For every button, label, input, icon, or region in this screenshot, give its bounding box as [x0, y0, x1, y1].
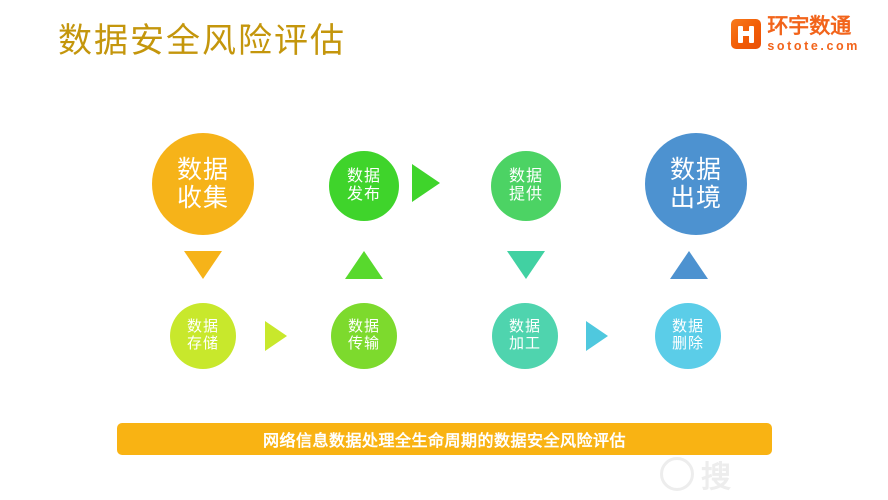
node-publish-line1: 数据 [347, 168, 381, 186]
node-delete-line1: 数据 [672, 319, 704, 336]
node-store-line1: 数据 [187, 319, 219, 336]
node-transmit: 数据传输 [331, 303, 397, 369]
node-collect-line1: 数据 [177, 156, 229, 184]
node-transmit-line1: 数据 [348, 319, 380, 336]
arrow-delete-to-export-icon [670, 251, 708, 279]
node-publish: 数据发布 [329, 151, 399, 221]
arrow-transmit-to-publish-icon [345, 251, 383, 279]
node-export-line1: 数据 [670, 156, 722, 184]
caption-text: 网络信息数据处理全生命周期的数据安全风险评估 [263, 427, 626, 451]
node-process-line2: 加工 [509, 336, 541, 353]
caption-banner: 网络信息数据处理全生命周期的数据安全风险评估 [117, 423, 772, 455]
node-provide: 数据提供 [491, 151, 561, 221]
node-provide-line2: 提供 [509, 186, 543, 204]
node-transmit-line2: 传输 [348, 336, 380, 353]
node-delete: 数据删除 [655, 303, 721, 369]
node-collect-line2: 收集 [177, 184, 229, 212]
node-export: 数据出境 [645, 133, 747, 235]
node-provide-line1: 数据 [509, 168, 543, 186]
node-publish-line2: 发布 [347, 186, 381, 204]
node-collect: 数据收集 [152, 133, 254, 235]
node-process: 数据加工 [492, 303, 558, 369]
arrow-publish-to-provide-icon [412, 164, 440, 202]
arrow-provide-to-process-icon [507, 251, 545, 279]
arrow-store-to-transmit-icon [265, 321, 287, 351]
node-export-line2: 出境 [670, 184, 722, 212]
node-store-line2: 存储 [187, 336, 219, 353]
slide-canvas: 数据安全风险评估 环宇数通 sotote.com 数据收集数据发布数据提供数据出… [0, 0, 888, 500]
arrow-process-to-delete-icon [586, 321, 608, 351]
node-store: 数据存储 [170, 303, 236, 369]
node-process-line1: 数据 [509, 319, 541, 336]
arrow-collect-to-store-icon [184, 251, 222, 279]
node-delete-line2: 删除 [672, 336, 704, 353]
